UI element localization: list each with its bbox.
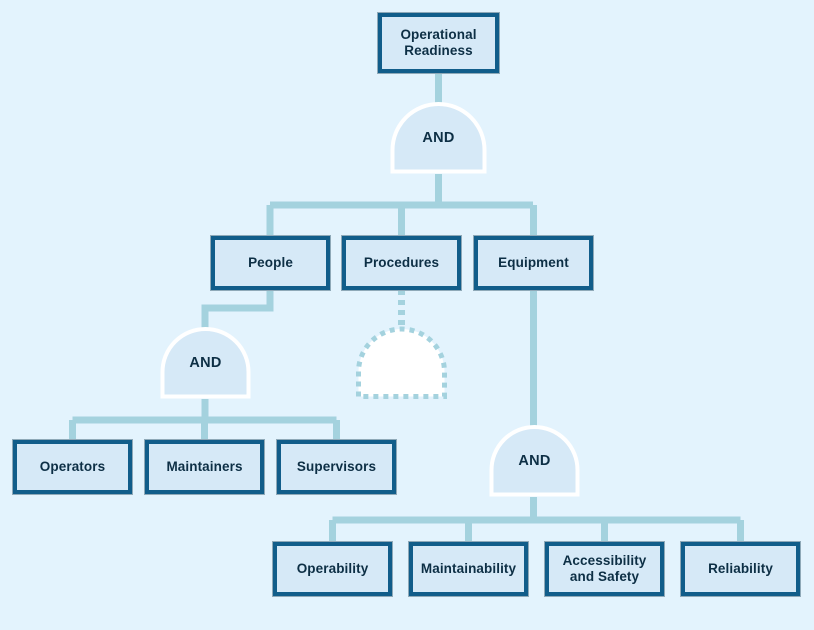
placeholder-gate-shape [359,329,445,397]
node-operators[interactable]: Operators [13,440,132,494]
node-accessibility-and-safety[interactable]: Accessibility and Safety [545,542,664,596]
node-reliability[interactable]: Reliability [681,542,800,596]
node-label: Reliability [704,561,777,577]
node-label: Supervisors [293,459,380,475]
fault-tree-canvas: AND AND AND Operational Readiness People… [0,0,814,630]
node-label: Procedures [360,255,443,271]
connector-layer [0,0,814,630]
wire-people-to-and [205,290,270,329]
node-equipment[interactable]: Equipment [474,236,593,290]
node-label: Maintainers [162,459,246,475]
node-label: Equipment [494,255,573,271]
node-label: Operators [36,459,109,475]
gate-procedures-placeholder[interactable] [356,327,447,399]
node-people[interactable]: People [211,236,330,290]
node-operational-readiness[interactable]: Operational Readiness [378,13,499,73]
node-maintainability[interactable]: Maintainability [409,542,528,596]
node-label: Maintainability [417,561,520,577]
and-gate-shape [393,104,485,171]
node-operability[interactable]: Operability [273,542,392,596]
node-procedures[interactable]: Procedures [342,236,461,290]
and-gate-shape [492,427,578,495]
gate-top-and[interactable]: AND [390,102,487,174]
node-label: Operability [293,561,373,577]
node-label: People [244,255,297,271]
node-label: Operational Readiness [396,27,480,59]
node-supervisors[interactable]: Supervisors [277,440,396,494]
gate-equipment-and[interactable]: AND [489,425,580,497]
node-label: Accessibility and Safety [559,553,651,585]
node-maintainers[interactable]: Maintainers [145,440,264,494]
gate-people-and[interactable]: AND [160,327,251,399]
and-gate-shape [163,329,249,397]
